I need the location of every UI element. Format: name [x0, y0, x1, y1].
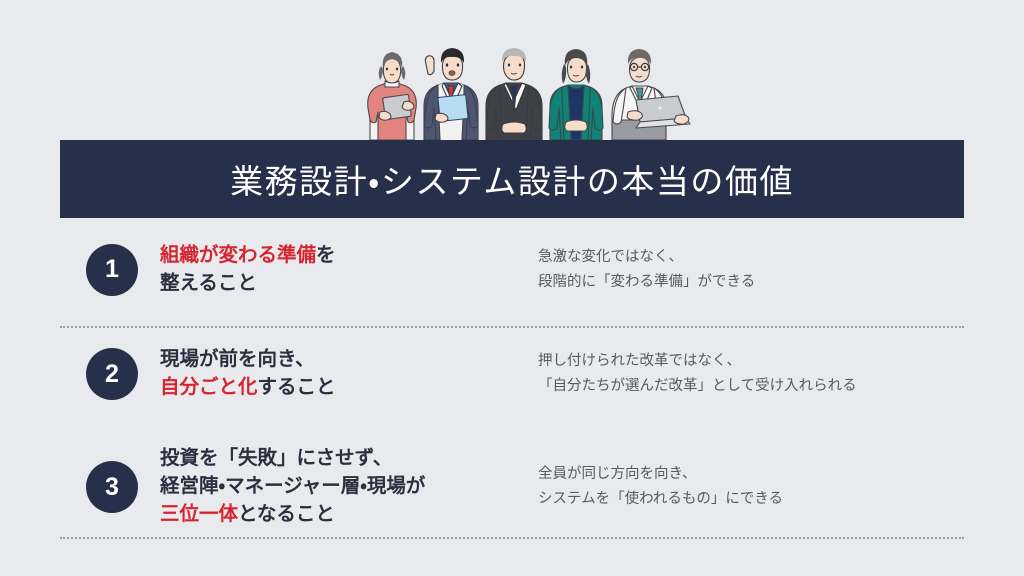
point-row-2: 2 現場が前を向き、 自分ごと化すること 押し付けられた改革ではなく、 「自分た… [0, 321, 1024, 427]
point-main-line: 自分ごと化すること [160, 374, 520, 402]
point-detail-line: 「自分たちが選んだ改革」として受け入れられる [538, 374, 1024, 399]
person-senior-man-charcoal-suit [486, 48, 542, 140]
point-number-badge-2: 2 [86, 348, 138, 400]
point-main-accent: 三位一体 [160, 503, 238, 525]
person-woman-teal-cardigan [549, 49, 603, 140]
point-number-badge-3: 3 [86, 461, 138, 513]
point-detail-text-3: 全員が同じ方向を向き、 システムを「使われるもの」にできる [538, 462, 1024, 512]
person-man-navy-suit [424, 48, 478, 140]
points-list: 1 組織が変わる準備を 整えること 急激な変化ではなく、 段階的に「変わる準備」… [0, 218, 1024, 547]
point-detail-line: 急激な変化ではなく、 [538, 245, 1024, 270]
point-detail-text-1: 急激な変化ではなく、 段階的に「変わる準備」ができる [538, 245, 1024, 295]
point-row-1: 1 組織が変わる準備を 整えること 急激な変化ではなく、 段階的に「変わる準備」… [0, 218, 1024, 321]
point-main-line: 経営陣・マネージャー層・現場が [160, 473, 520, 501]
point-main-text-2: 現場が前を向き、 自分ごと化すること [160, 346, 520, 401]
page-title: 業務設計・システム設計の本当の価値 [230, 155, 794, 203]
slide-title-bar: 業務設計・システム設計の本当の価値 [60, 140, 964, 218]
point-main-line: 組織が変わる準備を [160, 242, 520, 270]
point-detail-text-2: 押し付けられた改革ではなく、 「自分たちが選んだ改革」として受け入れられる [538, 349, 1024, 399]
person-man-glasses-laptop [612, 49, 690, 140]
person-woman-pink-sweater [368, 52, 417, 140]
point-main-line: 三位一体となること [160, 501, 520, 529]
point-main-plain: 整えること [160, 272, 257, 294]
point-detail-line: 段階的に「変わる準備」ができる [538, 270, 1024, 295]
point-main-plain: を [316, 244, 336, 266]
point-detail-line: 押し付けられた改革ではなく、 [538, 349, 1024, 374]
point-detail-line: 全員が同じ方向を向き、 [538, 462, 1024, 487]
point-main-text-1: 組織が変わる準備を 整えること [160, 242, 520, 297]
five-business-people-illustration [340, 16, 700, 140]
point-main-accent: 自分ごと化 [160, 376, 258, 398]
point-row-3: 3 投資を「失敗」にさせず、 経営陣・マネージャー層・現場が 三位一体となること… [0, 427, 1024, 547]
point-main-plain: 投資を「失敗」にさせず、 [160, 447, 392, 469]
point-main-accent: 組織が変わる準備 [160, 244, 316, 266]
point-main-plain: 現場が前を向き、 [160, 348, 315, 370]
point-main-plain: すること [258, 376, 336, 398]
point-detail-line: システムを「使われるもの」にできる [538, 487, 1024, 512]
point-main-plain: 経営陣・マネージャー層・現場が [160, 475, 425, 497]
point-main-line: 整えること [160, 270, 520, 298]
point-number-badge-1: 1 [86, 244, 138, 296]
point-main-line: 投資を「失敗」にさせず、 [160, 445, 520, 473]
point-main-line: 現場が前を向き、 [160, 346, 520, 374]
illustration-band [0, 0, 1024, 140]
point-main-plain: となること [238, 503, 335, 525]
point-main-text-3: 投資を「失敗」にさせず、 経営陣・マネージャー層・現場が 三位一体となること [160, 445, 520, 528]
